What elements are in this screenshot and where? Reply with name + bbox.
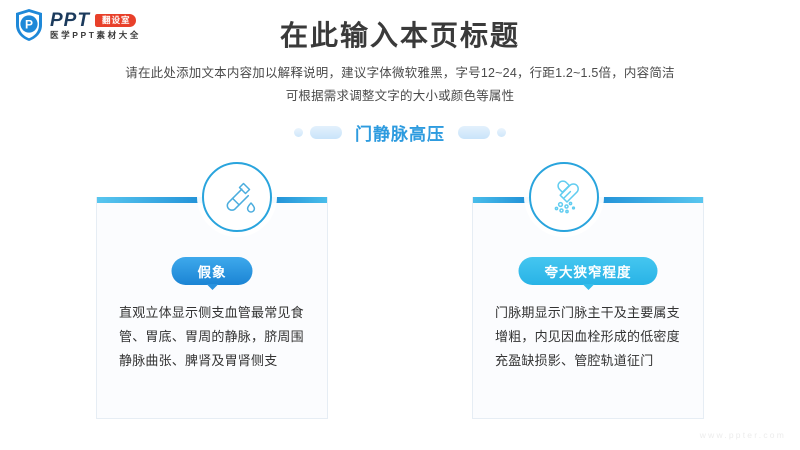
capsule-pill-icon: [529, 162, 599, 232]
section-title: 门静脉高压: [349, 120, 451, 145]
card-top-accent-right-a: [473, 197, 529, 203]
card-label-right: 夸大狭窄程度: [519, 257, 658, 285]
page-title: 在此输入本页标题: [0, 14, 800, 54]
decoration-pill-left: [310, 126, 342, 139]
section-header: 门静脉高压: [0, 120, 800, 145]
card-top-accent-left-a: [97, 197, 207, 203]
info-card-right[interactable]: 夸大狭窄程度 门脉期显示门脉主干及主要属支增粗，内见因血栓形成的低密度充盈缺损影…: [472, 197, 704, 419]
decoration-dot-left: [294, 128, 303, 137]
subtitle-line-1: 请在此处添加文本内容加以解释说明，建议字体微软雅黑，字号12~24，行距1.2~…: [90, 62, 710, 85]
decoration-pill-right: [458, 126, 490, 139]
card-top-accent-left-b: [271, 197, 327, 203]
card-body-right: 门脉期显示门脉主干及主要属支增粗，内见因血栓形成的低密度充盈缺损影、管腔轨道征门: [495, 301, 687, 373]
page-subtitle: 请在此处添加文本内容加以解释说明，建议字体微软雅黑，字号12~24，行距1.2~…: [90, 62, 710, 108]
card-top-accent-right-b: [593, 197, 703, 203]
footer-watermark: www.ppter.com: [700, 430, 786, 440]
subtitle-line-2: 可根据需求调整文字的大小或颜色等属性: [90, 85, 710, 108]
slide-root: P PPT 翻设室 医学PPT素材大全 在此输入本页标题 请在此处添加文本内容加…: [0, 0, 800, 450]
card-label-left: 假象: [172, 257, 253, 285]
card-body-left: 直观立体显示侧支血管最常见食管、胃底、胃周的静脉，脐周围静脉曲张、脾肾及胃肾侧支: [119, 301, 311, 373]
decoration-dot-right: [497, 128, 506, 137]
blood-test-tube-icon: [202, 162, 272, 232]
info-card-left[interactable]: 假象 直观立体显示侧支血管最常见食管、胃底、胃周的静脉，脐周围静脉曲张、脾肾及胃…: [96, 197, 328, 419]
